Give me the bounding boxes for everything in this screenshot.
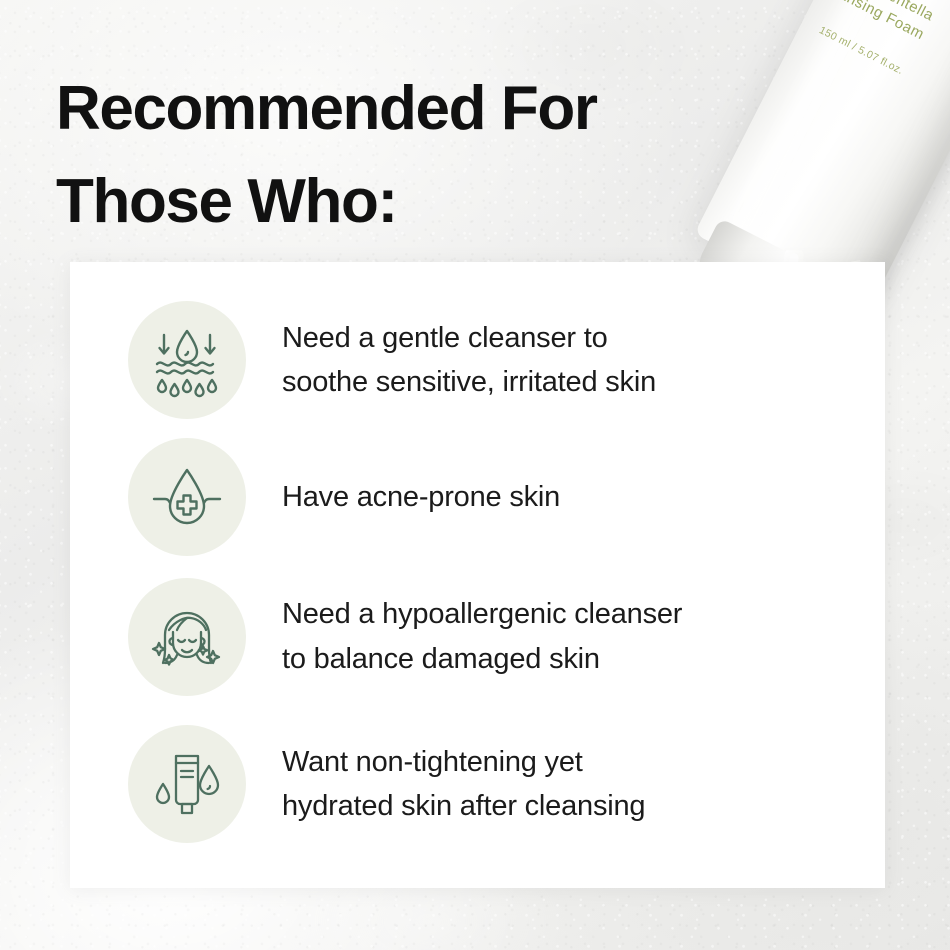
- icon-badge: [128, 578, 246, 696]
- list-item-label: Want non-tightening yet hydrated skin af…: [282, 740, 645, 828]
- icon-badge: [128, 438, 246, 556]
- benefits-list: Need a gentle cleanser to soothe sensiti…: [70, 262, 885, 888]
- skin-hydration-absorption-icon: [148, 321, 226, 399]
- list-item[interactable]: Need a hypoallergenic cleanser to balanc…: [128, 564, 858, 709]
- infographic-canvas: Recommended For Those Who: Centella Clea…: [0, 0, 950, 950]
- icon-badge: [128, 725, 246, 843]
- droplet-medical-cross-icon: [148, 458, 226, 536]
- list-item[interactable]: Want non-tightening yet hydrated skin af…: [128, 709, 858, 859]
- list-item[interactable]: Need a gentle cleanser to soothe sensiti…: [128, 290, 858, 430]
- woman-face-sparkles-icon: [147, 597, 227, 677]
- list-item-label: Need a hypoallergenic cleanser to balanc…: [282, 592, 682, 680]
- icon-badge: [128, 301, 246, 419]
- cleanser-tube-droplets-icon: [147, 744, 227, 824]
- list-item-label: Need a gentle cleanser to soothe sensiti…: [282, 316, 656, 404]
- list-item[interactable]: Have acne-prone skin: [128, 427, 858, 567]
- list-item-label: Have acne-prone skin: [282, 475, 560, 519]
- page-title: Recommended For Those Who:: [56, 62, 676, 248]
